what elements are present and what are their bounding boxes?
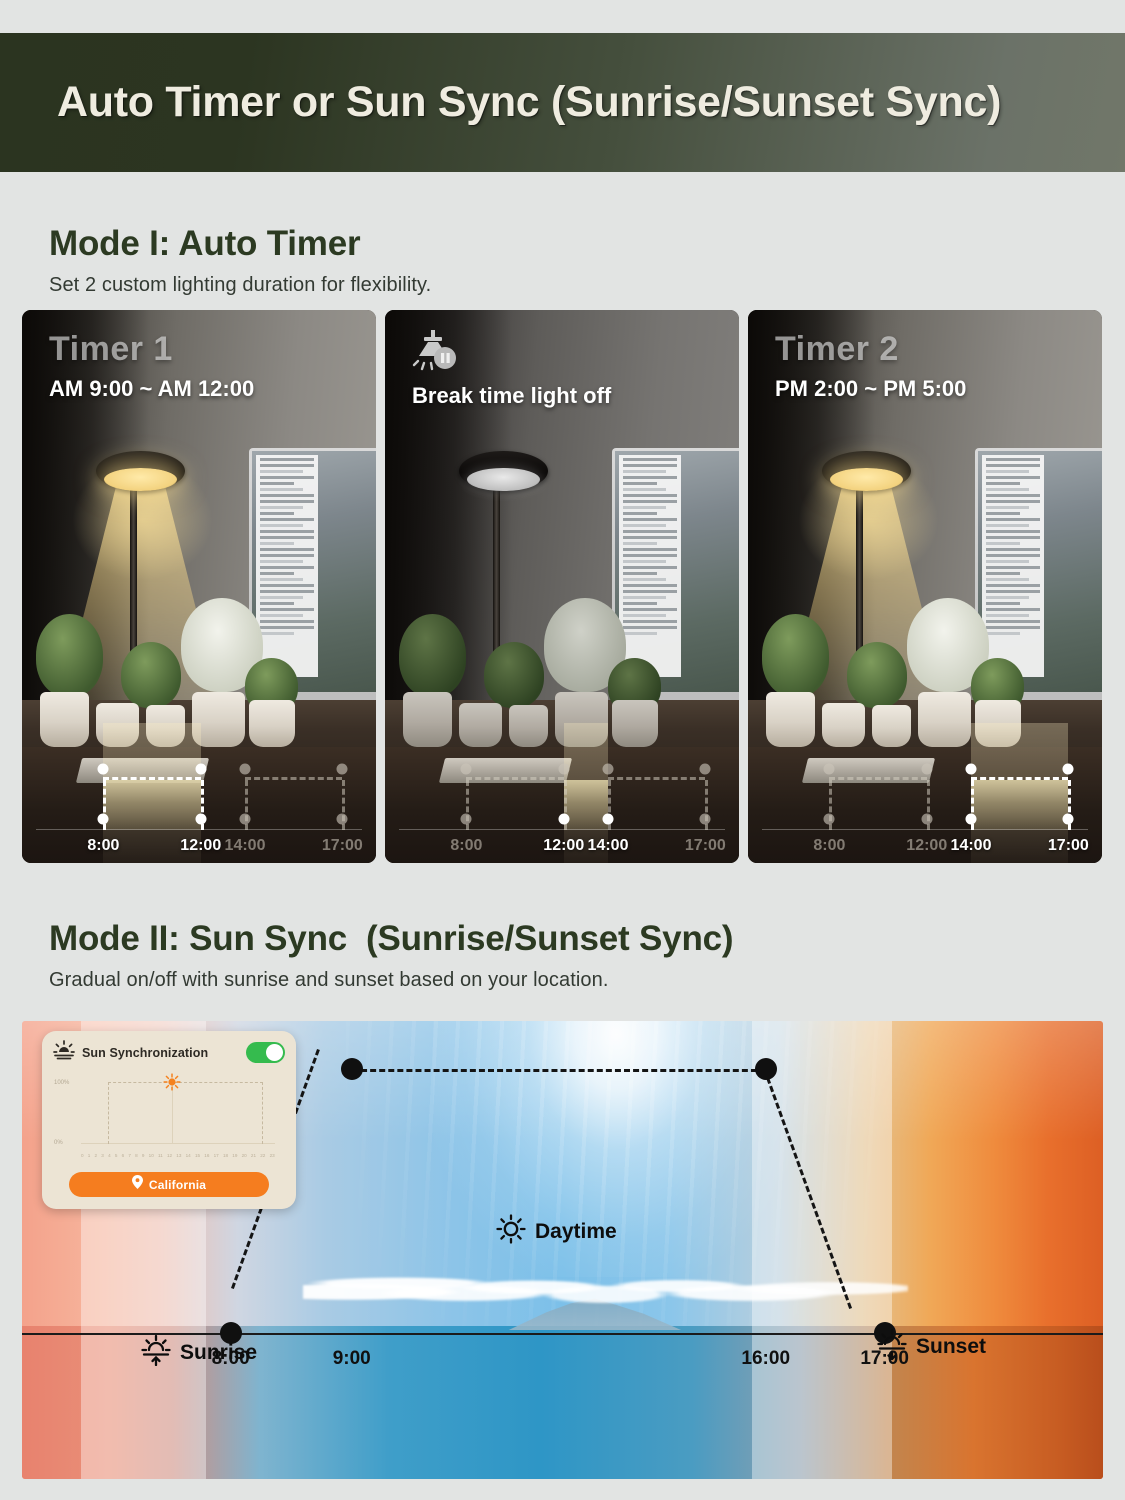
tick: 3 [101, 1153, 104, 1158]
chart-x-ticks: 0 1 2 3 4 5 6 7 8 9 10 11 12 13 14 15 16… [81, 1153, 275, 1158]
chart-baseline [81, 1143, 275, 1144]
point-base-active [603, 814, 614, 825]
sunset-label: Sunset [916, 1335, 986, 1359]
point-top-right [195, 764, 206, 775]
chart-y-min-label: 0% [54, 1140, 63, 1146]
timeline-label: 14:00 [588, 837, 629, 855]
location-button[interactable]: California [69, 1172, 269, 1197]
timer-panel-3: Timer 2 PM 2:00 ~ PM 5:00 8:00 12:00 14:… [748, 310, 1102, 863]
plant-foliage [36, 614, 103, 697]
point-base-right [195, 814, 206, 825]
tick: 13 [176, 1153, 181, 1158]
timer-panels-row: Timer 1 AM 9:00 ~ AM 12:00 8:00 12:00 [22, 310, 1103, 863]
tick: 9 [142, 1153, 145, 1158]
daytime-start-point [341, 1058, 363, 1080]
daytime-end-point [755, 1058, 777, 1080]
timeline-2: 8:00 12:00 14:00 17:00 [385, 741, 739, 863]
lamp-ring [822, 451, 911, 491]
chart-plot-area [81, 1082, 275, 1144]
timeline-label: 8:00 [450, 837, 482, 855]
tick: 14 [186, 1153, 191, 1158]
monitor-screen [978, 451, 1102, 692]
timer-1-range: AM 9:00 ~ AM 12:00 [49, 376, 254, 402]
page-header-banner: Auto Timer or Sun Sync (Sunrise/Sunset S… [0, 33, 1125, 172]
point-top-left [966, 764, 977, 775]
timeline-axis [762, 829, 1088, 830]
sun-sync-app-card[interactable]: Sun Synchronization 100% 0% [42, 1031, 296, 1209]
tick: 22 [260, 1153, 265, 1158]
timeline-axis [36, 829, 362, 830]
timeline-label: 8:00 [87, 837, 119, 855]
tick: 4 [108, 1153, 111, 1158]
panel-3-header: Timer 2 PM 2:00 ~ PM 5:00 [775, 330, 966, 402]
segment-top-dim [608, 777, 705, 780]
sunrise-icon [141, 1334, 171, 1372]
point-dim [558, 764, 569, 775]
timeline-label: 12:00 [180, 837, 221, 855]
daytime-label: Daytime [535, 1220, 617, 1244]
break-time-label: Break time light off [412, 383, 611, 409]
point-dim [337, 764, 348, 775]
active-fill [564, 780, 608, 830]
point-base-left [966, 814, 977, 825]
monitor-text-panel [619, 455, 681, 677]
tick: 2 [95, 1153, 98, 1158]
sunset-icon [877, 1328, 907, 1366]
tick: 18 [223, 1153, 228, 1158]
timeline-label: 8:00 [813, 837, 845, 855]
panel-1-header: Timer 1 AM 9:00 ~ AM 12:00 [49, 330, 254, 402]
plant-pot [40, 692, 90, 747]
plant-pot [918, 692, 971, 747]
point-base-left [98, 814, 109, 825]
mode-1-heading-group: Mode I: Auto Timer Set 2 custom lighting… [49, 224, 431, 297]
point-dim [461, 764, 472, 775]
daytime-plateau-line [352, 1069, 766, 1072]
timer-panel-1: Timer 1 AM 9:00 ~ AM 12:00 8:00 12:00 [22, 310, 376, 863]
point-dim [921, 814, 932, 825]
tick: 0 [81, 1153, 84, 1158]
mode-2-title: Mode II: Sun Sync (Sunrise/Sunset Sync) [49, 919, 733, 959]
sun-icon [496, 1214, 526, 1250]
chart-noon-line [172, 1082, 173, 1144]
point-base-active [558, 814, 569, 825]
plant-foliage [121, 642, 181, 708]
tick: 10 [149, 1153, 154, 1158]
mode-1-subtitle: Set 2 custom lighting duration for flexi… [49, 274, 431, 297]
page-title: Auto Timer or Sun Sync (Sunrise/Sunset S… [0, 78, 1001, 127]
timeline-1: 8:00 12:00 14:00 17:00 [22, 741, 376, 863]
tick: 5 [115, 1153, 118, 1158]
tick: 8 [135, 1153, 138, 1158]
app-card-chart: 100% 0% [53, 1074, 285, 1166]
lamp-ring [459, 451, 548, 491]
timeline-label: 17:00 [685, 837, 726, 855]
sunrise-icon [53, 1040, 75, 1065]
timeline-label: 12:00 [543, 837, 584, 855]
daytime-label-group: Daytime [496, 1214, 617, 1250]
tick: 15 [195, 1153, 200, 1158]
tick: 21 [251, 1153, 256, 1158]
app-card-title: Sun Synchronization [82, 1046, 208, 1060]
segment-top-active [971, 777, 1068, 780]
plant-foliage [484, 642, 544, 708]
lamp-pause-icon [412, 330, 458, 372]
lamp-ring [96, 451, 185, 491]
plant-foliage [762, 614, 829, 697]
plant-pot [249, 700, 295, 747]
timeline-label: 12:00 [906, 837, 947, 855]
mode-2-subtitle: Gradual on/off with sunrise and sunset b… [49, 969, 733, 992]
time-label-daystart: 9:00 [333, 1348, 371, 1370]
plant-foliage [399, 614, 466, 697]
location-pin-icon [132, 1175, 143, 1194]
tick: 20 [242, 1153, 247, 1158]
plant-foliage [847, 642, 907, 708]
timeline-label: 14:00 [225, 837, 266, 855]
point-dim [921, 764, 932, 775]
timer-panel-2: Break time light off 8:00 12:00 14:00 17… [385, 310, 739, 863]
monitor-text-panel [256, 455, 318, 677]
point-dim [461, 814, 472, 825]
plant-pot [766, 692, 816, 747]
segment-top-dim [245, 777, 342, 780]
point-dim [240, 764, 251, 775]
tick: 23 [270, 1153, 275, 1158]
point-dim [824, 814, 835, 825]
sun-sync-toggle[interactable] [246, 1042, 285, 1063]
segment-top-active [103, 777, 200, 780]
mode-2-heading-group: Mode II: Sun Sync (Sunrise/Sunset Sync) … [49, 919, 733, 992]
mode-1-title: Mode I: Auto Timer [49, 224, 431, 264]
monitor-screen [615, 451, 739, 692]
chart-left-ramp [108, 1082, 109, 1144]
timeline-label: 17:00 [1048, 837, 1089, 855]
timeline-label: 14:00 [951, 837, 992, 855]
monitor-text-panel [982, 455, 1044, 677]
panel-2-header: Break time light off [412, 330, 611, 409]
tick: 1 [88, 1153, 91, 1158]
tick: 6 [122, 1153, 125, 1158]
timeline-3: 8:00 12:00 14:00 17:00 [748, 741, 1102, 863]
timeline-label: 17:00 [322, 837, 363, 855]
point-top-right [1063, 764, 1074, 775]
active-fill [103, 780, 200, 830]
point-dim [337, 814, 348, 825]
monitor-screen [252, 451, 376, 692]
active-fill [971, 780, 1068, 830]
sunrise-label: Sunrise [180, 1341, 257, 1365]
app-card-header: Sun Synchronization [53, 1040, 285, 1065]
timeline-axis [399, 829, 725, 830]
tick: 11 [158, 1153, 163, 1158]
sunset-label-group: Sunset [877, 1328, 986, 1366]
chart-plateau [108, 1082, 263, 1083]
plant-pot [403, 692, 453, 747]
tick: 17 [214, 1153, 219, 1158]
point-dim [240, 814, 251, 825]
point-base-right [1063, 814, 1074, 825]
point-dim [603, 764, 614, 775]
chart-right-ramp [262, 1082, 263, 1144]
tick: 16 [204, 1153, 209, 1158]
location-name: California [149, 1178, 206, 1192]
chart-y-max-label: 100% [54, 1080, 69, 1086]
timer-1-heading: Timer 1 [49, 330, 254, 369]
point-dim [700, 814, 711, 825]
sunrise-label-group [134, 1022, 135, 1023]
tick: 7 [128, 1153, 131, 1158]
time-label-dayend: 16:00 [741, 1348, 790, 1370]
plant-pot [612, 700, 658, 747]
segment-top-dim [466, 777, 563, 780]
sun-icon [164, 1074, 181, 1091]
timer-2-heading: Timer 2 [775, 330, 966, 369]
ramp-down-line [763, 1069, 852, 1309]
sunrise-label-group: Sunrise [141, 1334, 257, 1372]
point-dim [824, 764, 835, 775]
tick: 12 [167, 1153, 172, 1158]
point-top-left [98, 764, 109, 775]
timer-2-range: PM 2:00 ~ PM 5:00 [775, 376, 966, 402]
point-dim [700, 764, 711, 775]
tick: 19 [232, 1153, 237, 1158]
segment-top-dim [829, 777, 926, 780]
